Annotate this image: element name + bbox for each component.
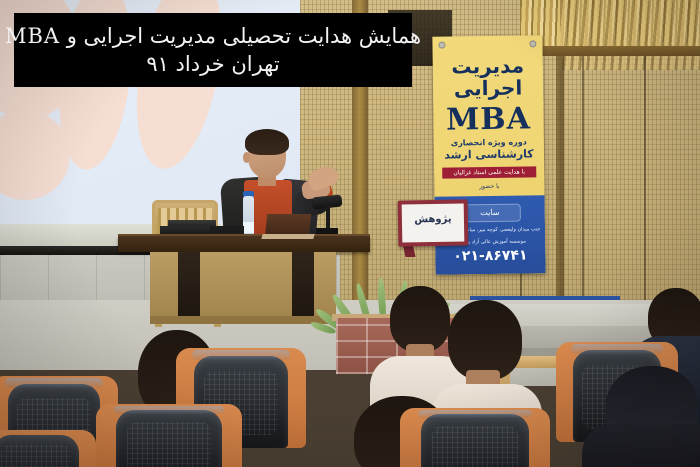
seat-shell [116,410,221,467]
speaker-hair [245,129,289,155]
seat-shell [0,435,79,467]
banner-subtitle-2: کارشناسی ارشد [434,147,544,162]
auditorium-seat[interactable] [96,404,242,467]
seat-highlight [5,378,102,388]
audience-person [592,366,700,467]
wall-panel-grid [520,56,700,326]
caption-line-1-persian: همایش هدایت تحصیلی مدیریت اجرایی و [67,24,421,48]
banner-pin-right [529,40,536,47]
wall-post-right [556,56,564,326]
wall-beam [520,46,700,56]
caption-line-1-latin: MBA [5,24,60,48]
auditorium-seat[interactable] [400,408,550,467]
speaker-hand-upper [305,163,340,193]
seat-highlight [418,410,532,418]
photo-canvas: همایش مدیریت اجرایی MBA دوره ویژه انحصار… [0,0,700,467]
banner-title-line2: اجرایی [433,75,543,101]
seat-perforation [1,444,70,467]
audience-head [448,300,522,380]
water-bottle-label [243,222,254,233]
seat-perforation [432,426,518,467]
audience-torso [582,424,700,467]
auditorium-seat[interactable] [0,430,96,467]
laptop-base [261,234,314,239]
speaker-table-leg-right [292,252,314,324]
seat-highlight [571,344,664,354]
audience-person [438,300,530,410]
banner-subtitle-1: دوره ویژه انحصاری [434,137,544,148]
caption-overlay: همایش هدایت تحصیلی مدیریت اجرایی و MBA ت… [14,13,412,87]
seat-highlight [114,406,225,414]
caption-line-1: همایش هدایت تحصیلی مدیریت اجرایی و MBA [5,24,421,48]
speaker-ear [243,152,250,163]
name-plate-frame: پژوهش [398,199,469,246]
caption-line-2: تهران خرداد ۹۱ [146,52,279,76]
name-plate-logo: پژوهش [398,213,468,225]
banner-acronym: MBA [433,101,543,138]
banner-phone-number: ۰۲۱-۸۶۷۴۱ [435,247,545,265]
banner-pin-left [438,42,445,49]
banner-note-1: با حضور [434,181,544,192]
seat-shell [421,414,529,467]
seat-perforation [127,422,211,467]
speaker-table-rail [150,316,336,324]
desk-papers [210,226,244,234]
banner-site-label: سایت [459,204,521,223]
banner-red-bar: با هدایت علمی استاد غزالیان [442,166,536,178]
speaker-table-top [118,236,370,252]
speaker-table-leg-left [178,252,200,324]
seat-highlight [192,350,291,360]
